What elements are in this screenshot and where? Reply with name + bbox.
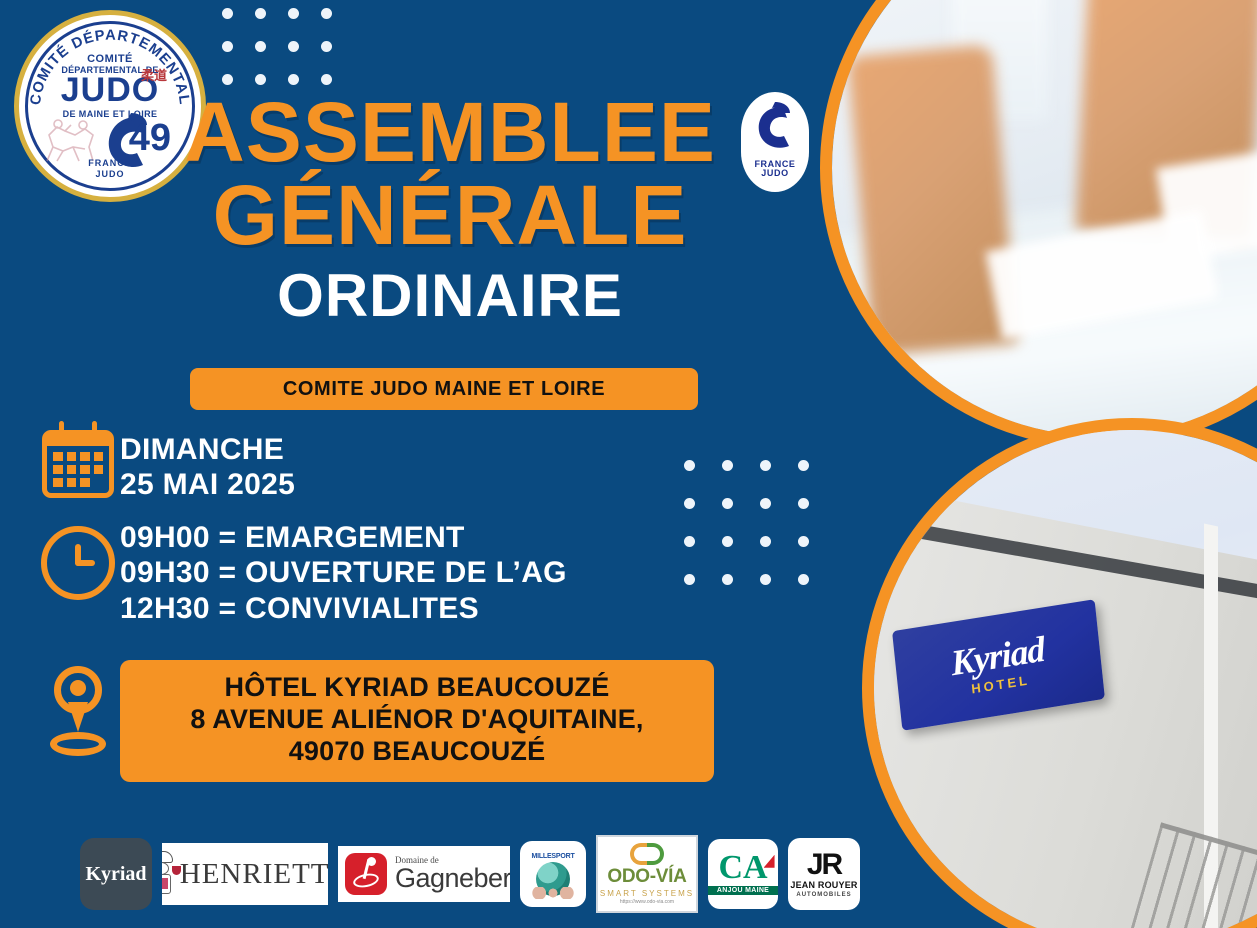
sponsor-credit-agricole-sub: ANJOU MAINE	[708, 886, 778, 895]
sponsor-strip: Kyriad HENRIETTE Domaine de Gagneber MIL…	[80, 826, 860, 922]
emblem-kanji: 柔道	[141, 69, 167, 82]
address-line-1: HÔTEL KYRIAD BEAUCOUZÉ	[134, 672, 700, 704]
date-day: DIMANCHE	[120, 432, 295, 467]
kyriad-sign-name: Kyriad	[949, 631, 1046, 682]
date-row: DIMANCHE 25 MAI 2025	[36, 424, 295, 503]
page-title-line2: GÉNÉRALE	[0, 173, 900, 259]
sponsor-jean-rouyer-line2: AUTOMOBILES	[796, 892, 851, 898]
sponsor-odo-via: ODO-VÍA SMART SYSTEMS https://www.odo-vi…	[596, 835, 698, 913]
gagneber-mark-icon	[345, 853, 387, 895]
odo-via-link-icon	[630, 843, 664, 865]
map-pin-icon	[42, 666, 114, 758]
sponsor-millesport: MILLESPORT	[520, 841, 586, 907]
sponsor-henriette-label: HENRIETTE	[180, 858, 328, 891]
address-banner: HÔTEL KYRIAD BEAUCOUZÉ 8 AVENUE ALIÉNOR …	[120, 660, 714, 782]
sponsor-jean-rouyer-line1: JEAN ROUYER	[790, 880, 857, 890]
organisation-banner: COMITE JUDO MAINE ET LOIRE	[190, 368, 698, 410]
schedule-line-1: 09H00 = EMARGEMENT	[120, 520, 567, 555]
address-line-2: 8 AVENUE ALIÉNOR D'AQUITAINE,	[134, 704, 700, 736]
globe-icon	[536, 862, 570, 896]
sponsor-millesport-label: MILLESPORT	[531, 853, 574, 860]
date-value: 25 MAI 2025	[120, 467, 295, 502]
chef-icon	[162, 851, 178, 897]
sponsor-gagneber-label: Gagneber	[395, 865, 510, 892]
kyriad-hotel-photo: Kyriad HOTEL	[862, 418, 1257, 928]
sponsor-odo-via-sub: SMART SYSTEMS	[600, 889, 694, 898]
calendar-icon	[42, 430, 114, 498]
calendar-icon-box	[36, 424, 120, 498]
clock-icon-box	[36, 520, 120, 600]
location-row: HÔTEL KYRIAD BEAUCOUZÉ 8 AVENUE ALIÉNOR …	[36, 660, 714, 782]
schedule-line-2: 09H30 = OUVERTURE DE L’AG	[120, 555, 567, 590]
schedule-text-block: 09H00 = EMARGEMENT 09H30 = OUVERTURE DE …	[120, 520, 567, 626]
dot-grid-decoration-middle	[684, 460, 836, 612]
sponsor-kyriad: Kyriad	[80, 838, 152, 910]
sponsor-domaine-de-gagneber: Domaine de Gagneber	[338, 846, 510, 902]
sponsor-credit-agricole-anjou-maine: CA ANJOU MAINE	[708, 839, 778, 909]
map-pin-icon-box	[36, 660, 120, 758]
sponsor-henriette: HENRIETTE	[162, 843, 328, 905]
clock-icon	[41, 526, 115, 600]
date-text-block: DIMANCHE 25 MAI 2025	[120, 424, 295, 503]
page-title-line3: ORDINAIRE	[0, 258, 900, 333]
page-title-line1: ASSEMBLEE	[0, 92, 900, 173]
sponsor-odo-via-label: ODO-VÍA	[607, 866, 686, 888]
sponsor-credit-agricole-mark: CA	[718, 853, 767, 884]
sponsor-jean-rouyer-automobiles: JR JEAN ROUYER AUTOMOBILES	[788, 838, 860, 910]
emblem-comite-label: COMITÉ	[19, 53, 201, 65]
schedule-line-3: 12H30 = CONVIVIALITES	[120, 591, 567, 626]
headline-block: ASSEMBLEE GÉNÉRALE ORDINAIRE	[0, 92, 900, 333]
sponsor-odo-via-url: https://www.odo-via.com	[620, 899, 674, 905]
poster-root: Kyriad HOTEL COMITÉ DÉPARTEMENTAL COMITÉ…	[0, 0, 1257, 928]
address-line-3: 49070 BEAUCOUZÉ	[134, 736, 700, 768]
time-row: 09H00 = EMARGEMENT 09H30 = OUVERTURE DE …	[36, 520, 567, 626]
sponsor-jean-rouyer-mark: JR	[807, 851, 841, 878]
